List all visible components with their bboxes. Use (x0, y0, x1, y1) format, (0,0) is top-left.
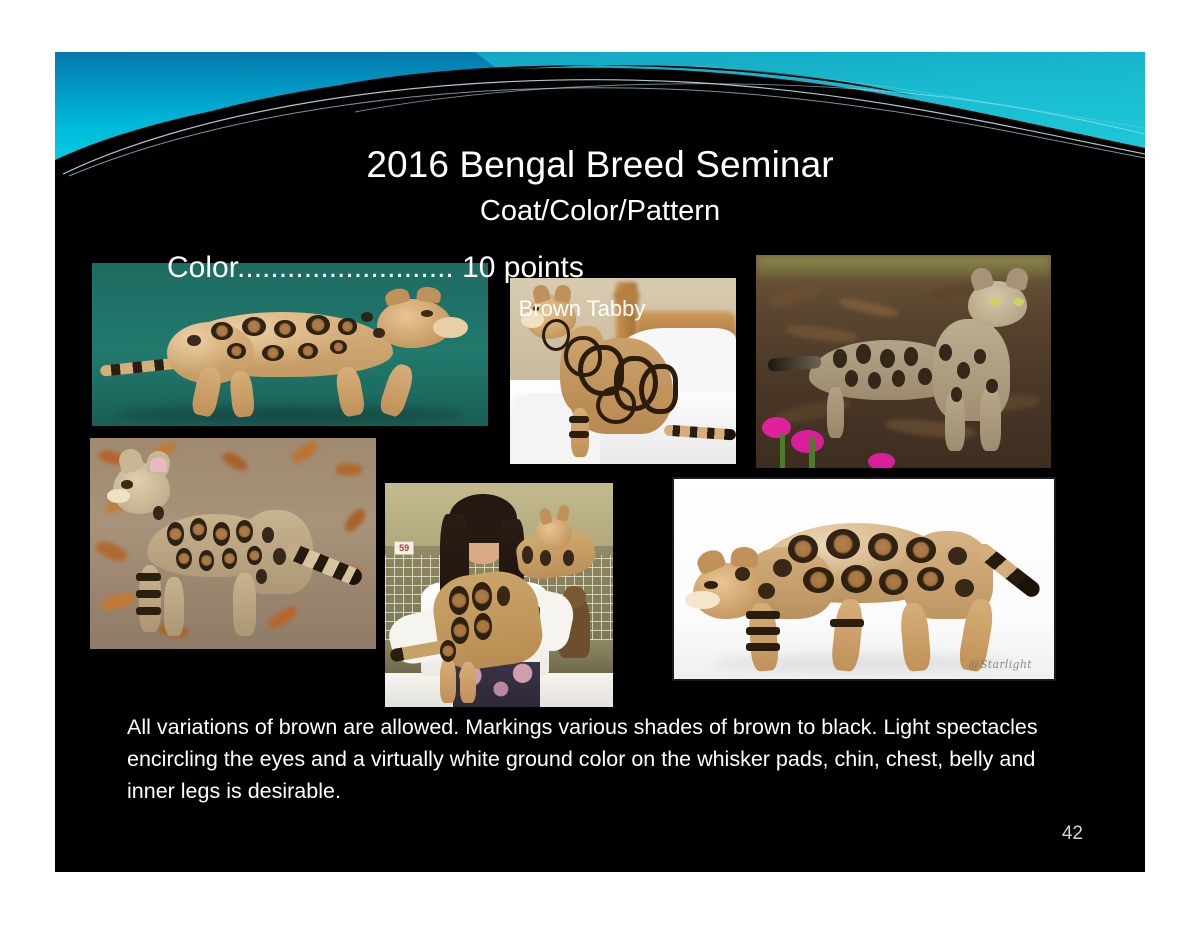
slide-canvas: 2016 Bengal Breed Seminar Coat/Color/Pat… (0, 0, 1200, 927)
photo-scene (90, 438, 376, 649)
photo-scene (756, 255, 1051, 468)
color-points-line: Color.......................... 10 point… (167, 251, 584, 284)
photo-bengal-mulch-flowers (752, 251, 1055, 472)
flower-icon (762, 417, 792, 438)
photo-bengal-teal-studio (88, 259, 492, 430)
slide-subtitle: Coat/Color/Pattern (55, 197, 1145, 226)
slide-title: 2016 Bengal Breed Seminar (55, 146, 1145, 183)
slide-body-text: All variations of brown are allowed. Mar… (127, 711, 1077, 807)
photo-scene: @Starlight (674, 479, 1054, 679)
photo-bengal-white-studio: @Starlight (672, 477, 1056, 681)
photo-watermark: @Starlight (969, 658, 1032, 671)
photo-scene: 59 52 (385, 483, 613, 707)
cage-number-tag-left: 59 (394, 541, 414, 555)
flower-icon (791, 430, 823, 453)
photo-bengal-show-judging: 59 52 (381, 479, 617, 711)
page-number: 42 (1062, 823, 1083, 845)
photo-scene (92, 263, 488, 426)
section-label-brown-tabby: Brown Tabby (55, 296, 1127, 322)
photo-bengal-autumn-leaves (86, 434, 380, 653)
presentation-slide: 2016 Bengal Breed Seminar Coat/Color/Pat… (55, 52, 1145, 872)
flower-icon (868, 453, 895, 470)
